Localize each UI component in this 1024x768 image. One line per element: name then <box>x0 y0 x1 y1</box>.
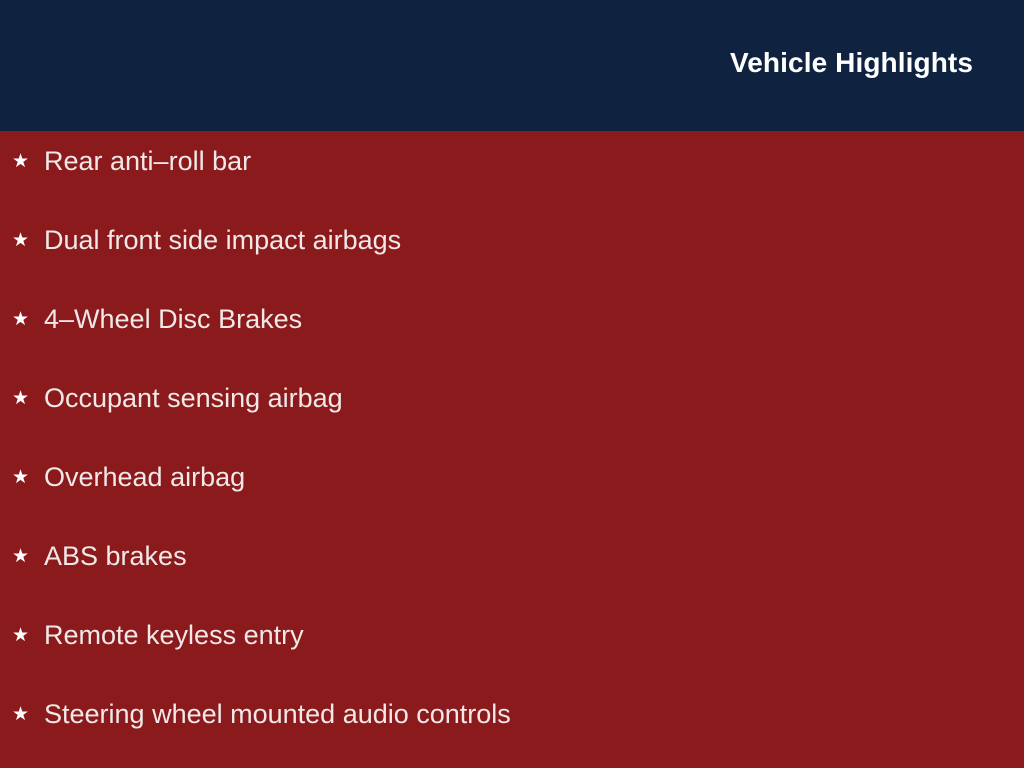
star-bullet-icon: ★ <box>12 389 32 408</box>
star-bullet-icon: ★ <box>12 310 32 329</box>
star-bullet-icon: ★ <box>12 231 32 250</box>
list-item: ★ Rear anti–roll bar <box>0 148 1024 227</box>
list-item: ★ Remote keyless entry <box>0 622 1024 701</box>
list-item-label: ABS brakes <box>32 543 1024 570</box>
page-title: Vehicle Highlights <box>730 49 973 77</box>
star-bullet-icon: ★ <box>12 468 32 487</box>
star-bullet-icon: ★ <box>12 547 32 566</box>
list-item: ★ Dual front side impact airbags <box>0 227 1024 306</box>
list-item: ★ Occupant sensing airbag <box>0 385 1024 464</box>
slide-canvas: Vehicle Highlights ★ Rear anti–roll bar … <box>0 0 1024 768</box>
star-bullet-icon: ★ <box>12 626 32 645</box>
list-item: ★ Overhead airbag <box>0 464 1024 543</box>
list-item-label: 4–Wheel Disc Brakes <box>32 306 1024 333</box>
list-item-label: Overhead airbag <box>32 464 1024 491</box>
list-item-label: Occupant sensing airbag <box>32 385 1024 412</box>
list-item-label: Dual front side impact airbags <box>32 227 1024 254</box>
slide-body-band: ★ Rear anti–roll bar ★ Dual front side i… <box>0 131 1024 768</box>
vehicle-highlights-list: ★ Rear anti–roll bar ★ Dual front side i… <box>0 148 1024 768</box>
star-bullet-icon: ★ <box>12 705 32 724</box>
list-item: ★ Steering wheel mounted audio controls <box>0 701 1024 768</box>
list-item-label: Steering wheel mounted audio controls <box>32 701 1024 728</box>
slide-header-band: Vehicle Highlights <box>0 0 1024 131</box>
list-item: ★ ABS brakes <box>0 543 1024 622</box>
list-item-label: Rear anti–roll bar <box>32 148 1024 175</box>
list-item: ★ 4–Wheel Disc Brakes <box>0 306 1024 385</box>
list-item-label: Remote keyless entry <box>32 622 1024 649</box>
star-bullet-icon: ★ <box>12 152 32 171</box>
